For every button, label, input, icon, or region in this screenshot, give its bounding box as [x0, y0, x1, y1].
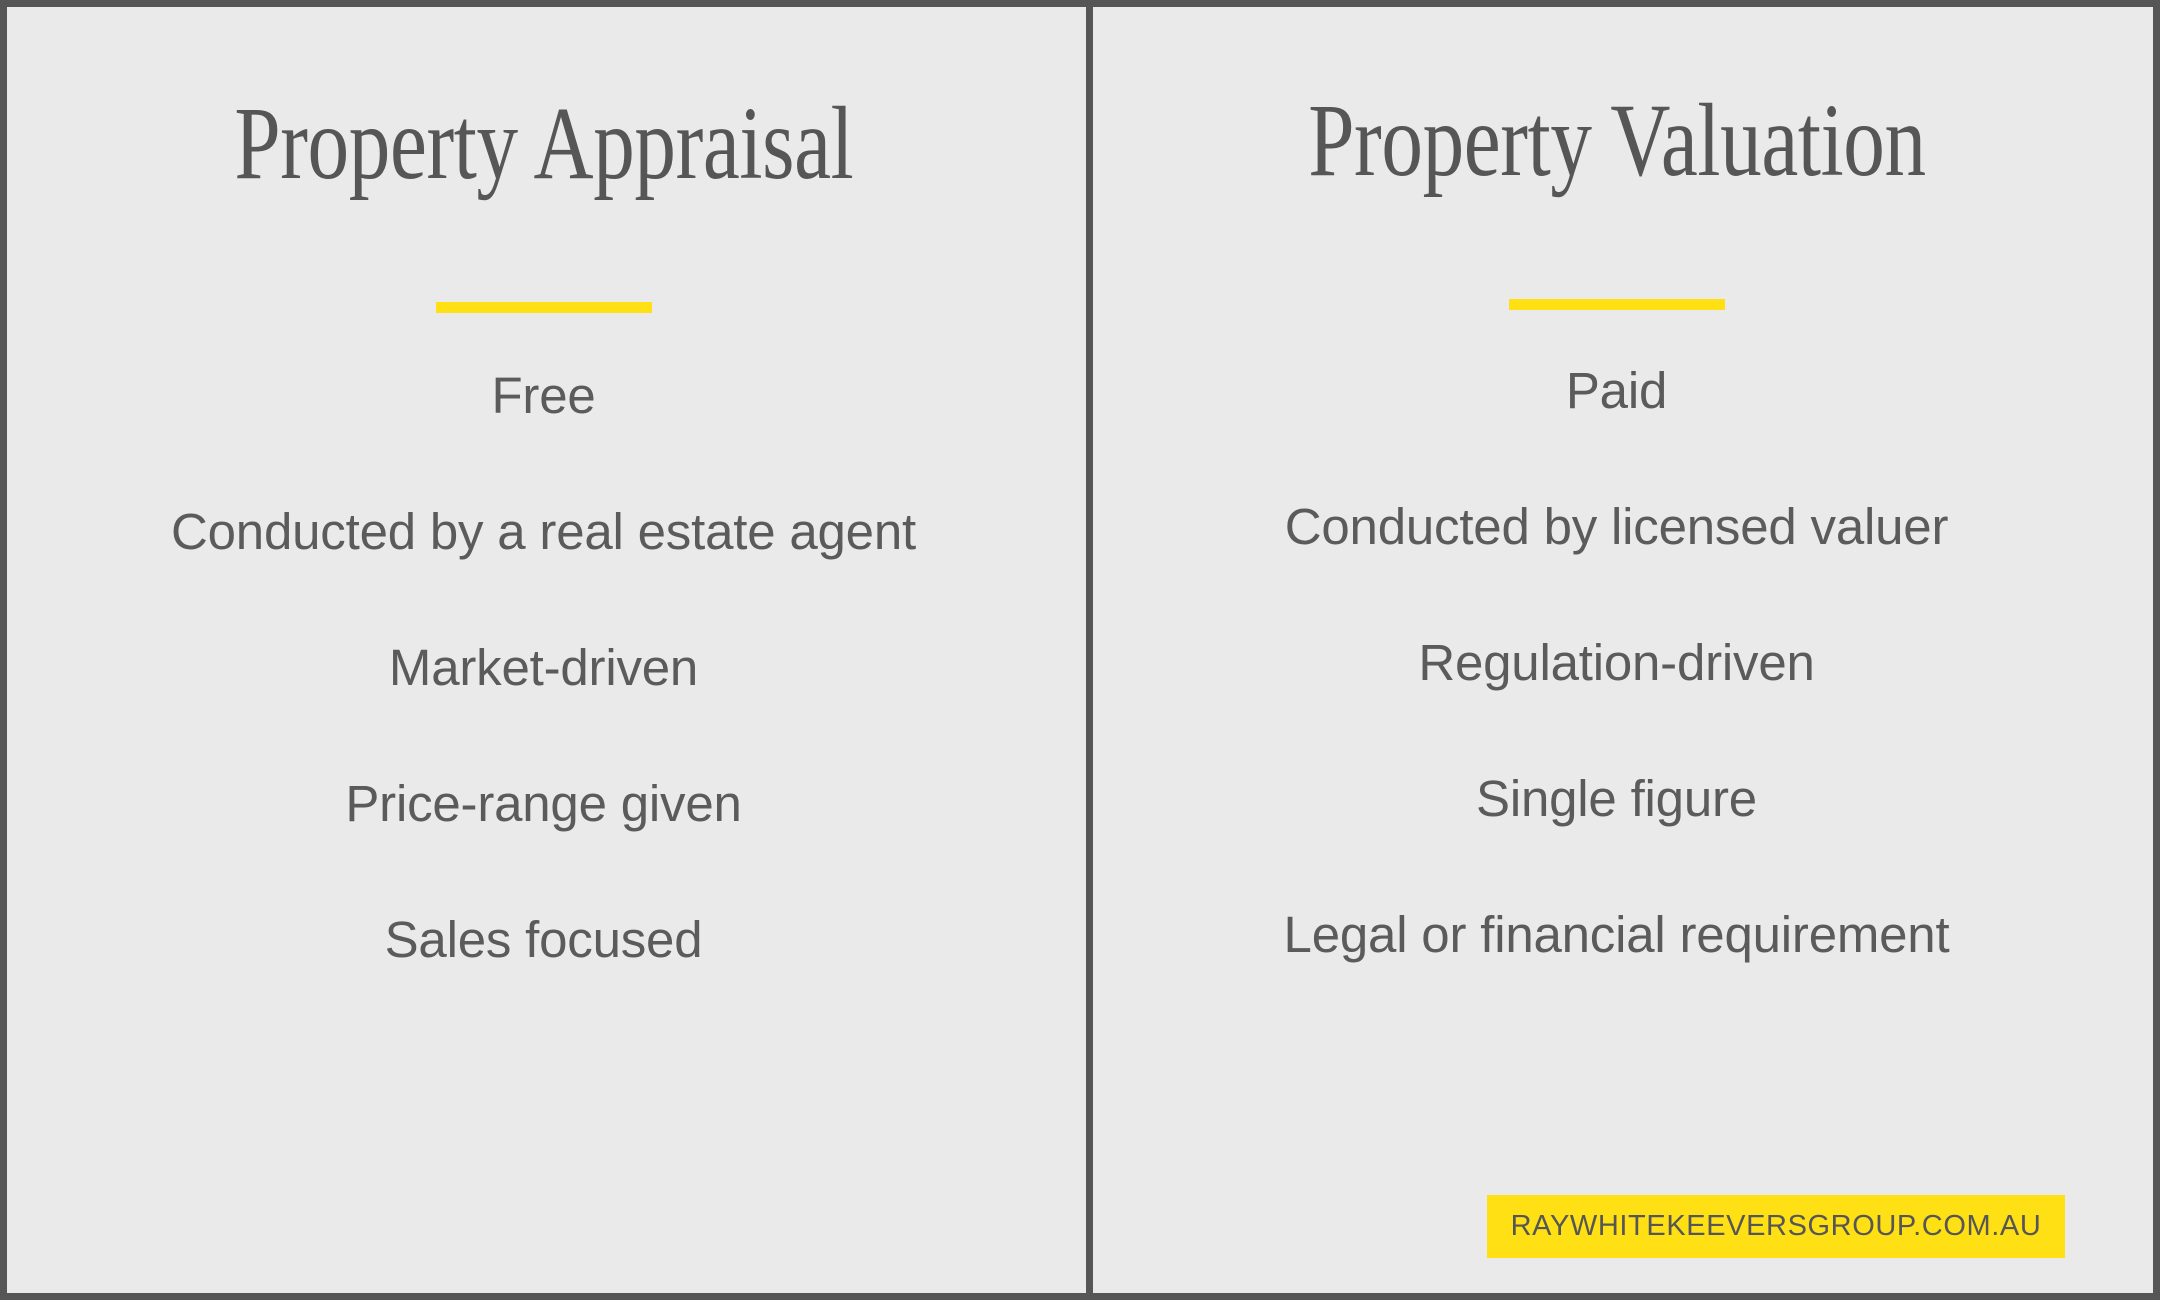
list-item: Regulation-driven	[1080, 637, 2153, 688]
list-item: Conducted by a real estate agent	[7, 506, 1080, 557]
column-title-left: Property Appraisal	[234, 92, 853, 196]
comparison-columns: Property Appraisal Free Conducted by a r…	[7, 7, 2153, 1293]
title-underline-left	[436, 302, 652, 313]
column-property-valuation: Property Valuation Paid Conducted by lic…	[1080, 7, 2153, 1293]
list-item: Price-range given	[7, 778, 1080, 829]
list-item: Conducted by licensed valuer	[1080, 501, 2153, 552]
column-property-appraisal: Property Appraisal Free Conducted by a r…	[7, 7, 1080, 1293]
list-item: Paid	[1080, 365, 2153, 416]
list-item: Free	[7, 370, 1080, 421]
list-item: Legal or financial requirement	[1080, 909, 2153, 960]
feature-list-right: Paid Conducted by licensed valuer Regula…	[1080, 365, 2153, 960]
feature-list-left: Free Conducted by a real estate agent Ma…	[7, 370, 1080, 965]
list-item: Single figure	[1080, 773, 2153, 824]
website-badge-label: RAYWHITEKEEVERSGROUP.COM.AU	[1511, 1210, 2042, 1243]
list-item: Sales focused	[7, 914, 1080, 965]
website-badge[interactable]: RAYWHITEKEEVERSGROUP.COM.AU	[1487, 1195, 2065, 1258]
comparison-slide: Property Appraisal Free Conducted by a r…	[0, 0, 2160, 1300]
title-underline-right	[1509, 299, 1725, 310]
column-title-right: Property Valuation	[1308, 89, 1926, 193]
column-divider	[1086, 7, 1093, 1293]
list-item: Market-driven	[7, 642, 1080, 693]
